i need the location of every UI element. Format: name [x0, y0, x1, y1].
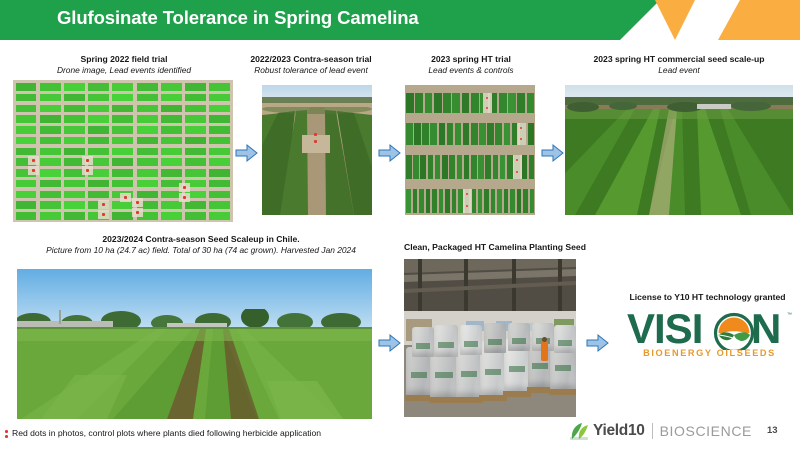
field-plot: [16, 83, 37, 91]
field-plot: [478, 155, 484, 179]
slide-header: Glufosinate Tolerance in Spring Camelina: [0, 0, 800, 40]
field-plot: [185, 105, 206, 113]
field-plot: [457, 155, 463, 179]
arrow-4-icon: [378, 333, 402, 353]
field-plot: [112, 126, 133, 134]
yield10-logo: Yield10 BIOSCIENCE: [568, 420, 752, 442]
field-plot: [16, 212, 37, 220]
field-plot: [209, 105, 230, 113]
red-control-marker: [183, 196, 186, 199]
field-plot: [64, 137, 85, 145]
caption-title: 2022/2023 Contra-season trial: [238, 54, 384, 65]
red-dot-legend-icon: [5, 430, 8, 433]
field-plot: [422, 123, 429, 145]
field-plot: [471, 93, 479, 113]
page-number: 13: [767, 425, 778, 436]
bag-label: [464, 341, 478, 347]
control-plot-patch: [483, 93, 492, 113]
slide: Glufosinate Tolerance in Spring Camelina…: [0, 0, 800, 450]
field-plot: [406, 189, 411, 213]
field-plot: [209, 169, 230, 177]
caption-title: Clean, Packaged HT Camelina Planting See…: [404, 242, 604, 253]
field-plot: [428, 155, 434, 179]
field-plot: [463, 123, 470, 145]
field-plot: [137, 137, 158, 145]
field-plot: [161, 212, 182, 220]
field-plot: [185, 158, 206, 166]
field-plot: [64, 201, 85, 209]
field-plot: [495, 123, 502, 145]
field-plot: [40, 115, 61, 123]
caption-title: 2023/2024 Contra-season Seed Scaleup in …: [12, 234, 390, 245]
field-plot: [40, 126, 61, 134]
field-plot: [112, 94, 133, 102]
photo-drone-field-trial: [13, 80, 233, 222]
field-plot: [64, 191, 85, 199]
caption-title: Spring 2022 field trial: [10, 54, 238, 65]
field-plot: [478, 189, 483, 213]
field-plot: [137, 148, 158, 156]
field-plot: [64, 180, 85, 188]
field-plot: [209, 94, 230, 102]
vision-logo: VISI N ™ BIOENERGY OILSEEDS: [627, 310, 792, 360]
bag-label: [435, 372, 453, 378]
field-plot: [112, 148, 133, 156]
bag-label: [411, 372, 428, 378]
arrow-1-icon: [235, 143, 259, 163]
red-control-marker: [314, 140, 317, 143]
field-plot: [185, 94, 206, 102]
field-plot: [508, 93, 516, 113]
field-plot: [64, 212, 85, 220]
svg-text:N: N: [751, 310, 780, 350]
field-plot: [161, 148, 182, 156]
field-plot: [209, 212, 230, 220]
caption-title: 2023 spring HT trial: [392, 54, 550, 65]
field-plot: [209, 115, 230, 123]
field-plot: [452, 93, 460, 113]
field-plot: [491, 189, 496, 213]
field-plot: [185, 201, 206, 209]
field-plot: [185, 212, 206, 220]
field-plot: [527, 93, 535, 113]
field-plot: [112, 105, 133, 113]
field-plot: [40, 158, 61, 166]
bag-label: [416, 343, 430, 349]
field-plot: [485, 155, 491, 179]
field-plot: [16, 137, 37, 145]
arrow-2-icon: [378, 143, 402, 163]
field-plot: [462, 93, 470, 113]
photo-contra-season-rows: [262, 85, 372, 215]
field-plot: [161, 137, 182, 145]
field-plot: [500, 155, 506, 179]
field-plot: [137, 169, 158, 177]
field-plot: [112, 180, 133, 188]
field-plot: [209, 137, 230, 145]
field-plot: [40, 191, 61, 199]
field-plot: [88, 180, 109, 188]
red-control-marker: [124, 196, 127, 199]
bag-label: [558, 340, 572, 346]
field-plot: [64, 94, 85, 102]
caption-subtitle: Lead event: [560, 65, 798, 76]
field-plot: [523, 189, 528, 213]
field-plot: [413, 189, 418, 213]
field-plot: [452, 189, 457, 213]
field-plot: [64, 105, 85, 113]
page-title: Glufosinate Tolerance in Spring Camelina: [57, 7, 419, 29]
caption-subtitle: Picture from 10 ha (24.7 ac) field. Tota…: [12, 245, 390, 256]
field-plot: [530, 189, 535, 213]
trademark-symbol: ™: [787, 312, 792, 318]
field-plot: [40, 83, 61, 91]
field-plot: [185, 137, 206, 145]
field-plot: [432, 189, 437, 213]
brand-divider: [652, 423, 653, 439]
field-plot: [16, 126, 37, 134]
caption-contra-season-trial: 2022/2023 Contra-season trial Robust tol…: [238, 54, 384, 76]
photo-commercial-scale-up-field: [565, 85, 793, 215]
caption-title: 2023 spring HT commercial seed scale-up: [560, 54, 798, 65]
field-plot: [88, 83, 109, 91]
field-plot: [209, 201, 230, 209]
field-plot: [406, 123, 413, 145]
field-plot: [510, 189, 515, 213]
field-plot: [419, 189, 424, 213]
field-plot: [449, 155, 455, 179]
field-plot: [64, 148, 85, 156]
field-plot: [209, 158, 230, 166]
field-plot: [161, 83, 182, 91]
yield10-leaf-icon: [568, 421, 590, 441]
field-plot: [161, 126, 182, 134]
field-plot: [471, 123, 478, 145]
field-plot: [16, 105, 37, 113]
brand-subtitle: BIOSCIENCE: [660, 423, 752, 439]
field-plot: [16, 191, 37, 199]
field-plot: [88, 191, 109, 199]
field-plot: [209, 83, 230, 91]
red-control-marker: [183, 186, 186, 189]
red-control-marker: [86, 169, 89, 172]
brand-name: Yield10: [593, 422, 645, 440]
red-control-marker: [32, 169, 35, 172]
photo-chile-seed-scaleup-field: [17, 269, 372, 419]
field-plot: [137, 126, 158, 134]
field-plot: [430, 123, 437, 145]
bag-label: [488, 339, 502, 345]
field-plot: [64, 83, 85, 91]
field-plot: [185, 169, 206, 177]
caption-subtitle: Drone image, Lead events identified: [10, 65, 238, 76]
field-plot: [88, 137, 109, 145]
field-plot: [185, 148, 206, 156]
field-plot: [137, 180, 158, 188]
caption-spring-ht-trial: 2023 spring HT trial Lead events & contr…: [392, 54, 550, 76]
field-plot: [88, 115, 109, 123]
red-control-marker: [314, 133, 317, 136]
field-plot: [161, 201, 182, 209]
field-plot: [442, 155, 448, 179]
field-plot: [16, 180, 37, 188]
field-plot: [161, 105, 182, 113]
field-plot: [112, 83, 133, 91]
field-plot: [414, 123, 421, 145]
photo-packaged-seed-warehouse: [404, 259, 576, 417]
field-plot: [40, 94, 61, 102]
field-plot: [439, 189, 444, 213]
field-plot: [88, 126, 109, 134]
red-control-marker: [102, 203, 105, 206]
field-plot: [112, 137, 133, 145]
field-plot: [209, 148, 230, 156]
red-control-marker: [136, 211, 139, 214]
field-plot: [88, 94, 109, 102]
caption-spring-2022-field-trial: Spring 2022 field trial Drone image, Lea…: [10, 54, 238, 76]
red-control-marker: [32, 159, 35, 162]
arrow-3-icon: [541, 143, 565, 163]
field-plot: [40, 148, 61, 156]
footnote-text: Red dots in photos, control plots where …: [12, 428, 321, 438]
field-plot: [16, 94, 37, 102]
field-plot: [471, 155, 477, 179]
field-plot: [439, 123, 446, 145]
field-plot: [426, 189, 431, 213]
field-plot: [517, 93, 525, 113]
field-plot: [161, 169, 182, 177]
field-plot: [406, 93, 414, 113]
field-plot: [447, 123, 454, 145]
field-plot: [16, 148, 37, 156]
field-plot: [528, 123, 535, 145]
red-control-marker: [136, 201, 139, 204]
photo-aerial-ht-trial: [405, 85, 535, 215]
field-plot: [88, 105, 109, 113]
field-plot: [504, 189, 509, 213]
field-plot: [413, 155, 419, 179]
field-plot: [443, 93, 451, 113]
caption-packaged-seed: Clean, Packaged HT Camelina Planting See…: [404, 242, 604, 253]
field-plot: [16, 115, 37, 123]
field-plot: [112, 158, 133, 166]
field-plot: [415, 93, 423, 113]
caption-chile-scaleup: 2023/2024 Contra-season Seed Scaleup in …: [12, 234, 390, 256]
vision-wordmark-icon: VISI N: [627, 310, 792, 350]
field-plot: [499, 93, 507, 113]
field-plot: [434, 93, 442, 113]
bag-label: [512, 338, 526, 344]
field-plot: [529, 155, 535, 179]
field-plot: [517, 189, 522, 213]
field-plot: [161, 115, 182, 123]
pallet: [549, 389, 576, 395]
bag-label: [461, 371, 478, 377]
arrow-5-icon: [586, 333, 610, 353]
field-plot: [161, 94, 182, 102]
field-plot: [40, 180, 61, 188]
red-control-marker: [102, 213, 105, 216]
field-plot: [497, 189, 502, 213]
caption-commercial-seed-scale-up: 2023 spring HT commercial seed scale-up …: [560, 54, 798, 76]
field-plot: [40, 201, 61, 209]
field-plot: [435, 155, 441, 179]
field-plot: [522, 155, 528, 179]
header-orange-wedge-icon: [718, 0, 800, 40]
field-plot: [137, 83, 158, 91]
field-plot: [504, 123, 511, 145]
bag-label: [555, 365, 572, 371]
field-plot: [209, 126, 230, 134]
red-control-marker: [86, 159, 89, 162]
vision-tagline: BIOENERGY OILSEEDS: [627, 348, 792, 358]
field-plot: [40, 137, 61, 145]
field-plot: [185, 115, 206, 123]
field-plot: [64, 126, 85, 134]
field-plot: [445, 189, 450, 213]
field-plot: [16, 201, 37, 209]
field-plot: [112, 115, 133, 123]
field-plot: [137, 94, 158, 102]
field-plot: [209, 180, 230, 188]
license-text: License to Y10 HT technology granted: [615, 292, 800, 302]
caption-subtitle: Lead events & controls: [392, 65, 550, 76]
field-plot: [455, 123, 462, 145]
field-plot: [507, 155, 513, 179]
field-plot: [40, 169, 61, 177]
field-plot: [484, 189, 489, 213]
field-plot: [185, 83, 206, 91]
bag-label: [509, 366, 526, 372]
red-dot-legend-icon: [5, 435, 8, 438]
field-plot: [137, 105, 158, 113]
svg-text:VISI: VISI: [627, 310, 702, 350]
field-plot: [185, 126, 206, 134]
field-plot: [209, 191, 230, 199]
field-plot: [137, 158, 158, 166]
field-plot: [40, 105, 61, 113]
field-plot: [406, 155, 412, 179]
field-plot: [425, 93, 433, 113]
field-plot: [493, 155, 499, 179]
bag-label: [532, 363, 547, 369]
field-plot: [88, 148, 109, 156]
field-plot: [112, 169, 133, 177]
bag-label: [485, 369, 502, 375]
field-plot: [420, 155, 426, 179]
field-plot: [464, 155, 470, 179]
caption-subtitle: Robust tolerance of lead event: [238, 65, 384, 76]
field-plot: [479, 123, 486, 145]
field-plot: [112, 212, 133, 220]
field-plot: [112, 201, 133, 209]
field-plot: [487, 123, 494, 145]
field-plot: [40, 212, 61, 220]
field-plot: [64, 115, 85, 123]
field-plot: [137, 115, 158, 123]
worker-figure: [541, 341, 548, 361]
field-plot: [161, 158, 182, 166]
bag-label: [438, 342, 453, 348]
